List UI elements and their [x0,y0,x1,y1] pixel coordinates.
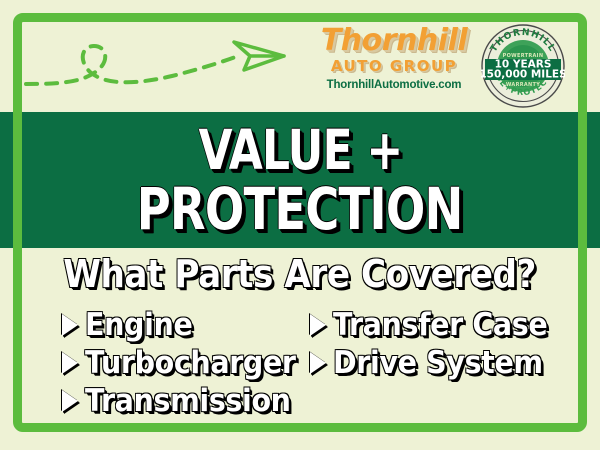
advertisement-banner: Thornhill AUTO GROUP ThornhillAutomotive… [0,0,600,450]
badge-miles: 150,000 MILES [481,69,565,81]
triangle-right-icon [62,390,78,412]
logo-wordmark: Thornhill [314,26,474,56]
hero-title: VALUE + PROTECTION [0,112,600,248]
hero-title-line-2: PROTECTION [137,180,463,238]
triangle-right-icon [310,314,326,336]
part-label: Transmission [85,384,291,418]
triangle-right-icon [62,314,78,336]
triangle-right-icon [62,352,78,374]
list-item: Engine [62,306,310,344]
logo-subtitle: AUTO GROUP [314,58,474,75]
triangle-right-icon [310,352,326,374]
covered-parts-list: Engine Turbocharger Transmission Transfe… [0,306,600,420]
website-url: ThornhillAutomotive.com [314,78,474,92]
dashed-arrow-path-icon [22,22,294,107]
part-label: Engine [85,308,192,342]
badge-warranty-label: WARRANTY [506,82,540,88]
hero-title-line-1: VALUE + [198,123,402,178]
coverage-question: What Parts Are Covered? [0,252,600,296]
warranty-badge: THORNHILL VALUE+PROTECTION POWERTRAIN 10… [481,24,565,108]
list-item: Transmission [62,382,310,420]
part-label: Turbocharger [85,346,296,380]
list-item: Turbocharger [62,344,310,382]
part-label: Drive System [333,346,543,380]
list-item: Drive System [310,344,558,382]
parts-column-left: Engine Turbocharger Transmission [62,306,310,420]
coverage-question-text: What Parts Are Covered? [64,252,537,296]
part-label: Transfer Case [333,308,547,342]
list-item: Transfer Case [310,306,558,344]
thornhill-logo: Thornhill AUTO GROUP ThornhillAutomotive… [314,26,474,92]
parts-column-right: Transfer Case Drive System [310,306,558,420]
